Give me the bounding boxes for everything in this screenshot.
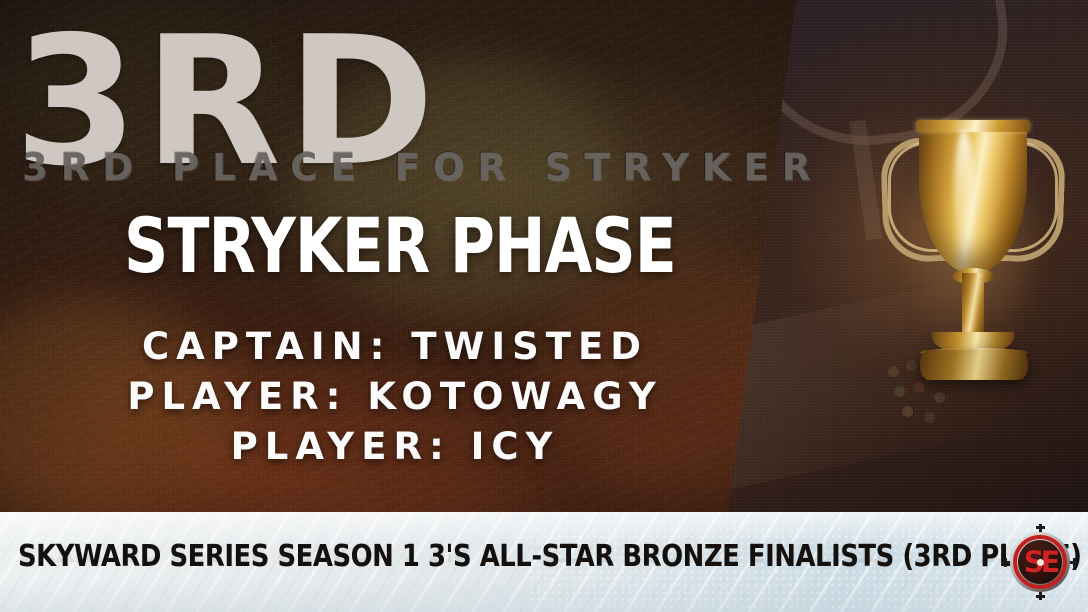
placement-subtitle: 3RD PLACE FOR STRYKER: [22, 148, 770, 188]
crosshair-scope-logo-icon: SE: [1002, 524, 1078, 600]
tournament-graphic: 3RD 3RD PLACE FOR STRYKER STRYKER PHASE …: [0, 0, 1088, 612]
bottom-banner: SKYWARD SERIES SEASON 1 3'S ALL-STAR BRO…: [0, 512, 1088, 612]
roster-item-captain: CAPTAIN: TWISTED: [0, 322, 790, 372]
roster-item-player-2: PLAYER: ICY: [0, 422, 790, 472]
roster-list: CAPTAIN: TWISTED PLAYER: KOTOWAGY PLAYER…: [0, 322, 790, 472]
roster-item-player-1: PLAYER: KOTOWAGY: [0, 372, 790, 422]
team-name: STRYKER PHASE: [40, 204, 760, 288]
trophy-cup-icon: [878, 110, 1068, 410]
banner-caption: SKYWARD SERIES SEASON 1 3'S ALL-STAR BRO…: [18, 540, 1082, 574]
